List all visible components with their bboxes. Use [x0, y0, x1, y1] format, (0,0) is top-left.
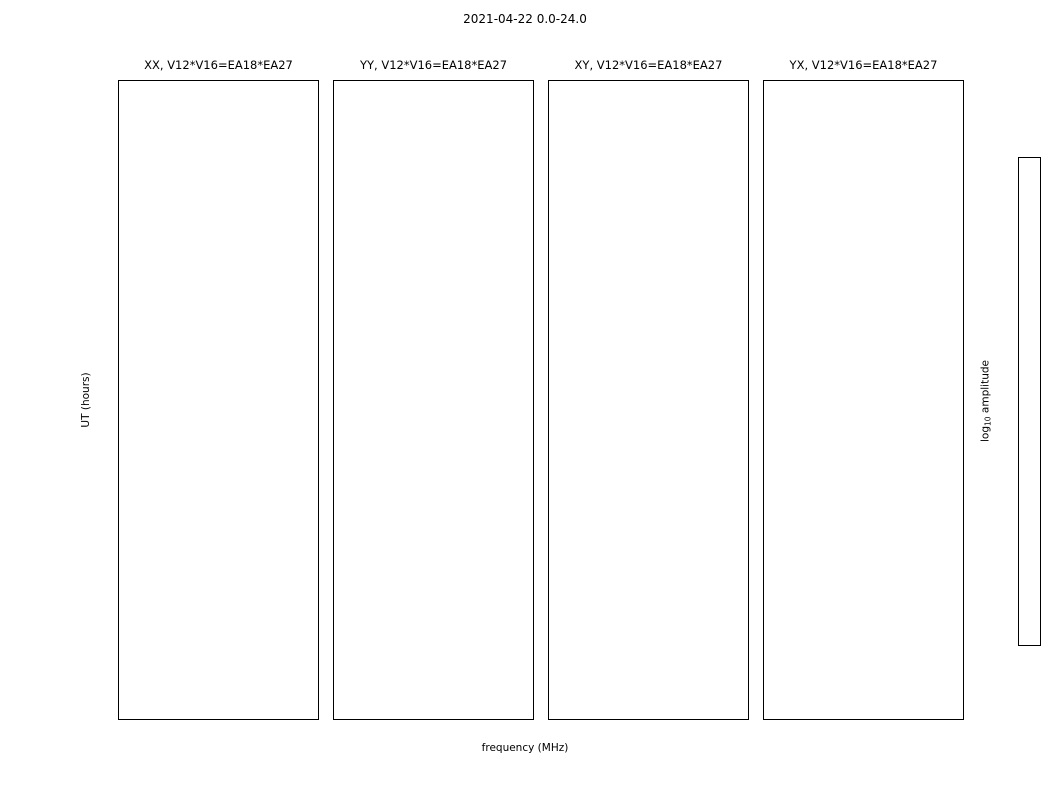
- heatmap-panel-yy[interactable]: [333, 80, 534, 720]
- heatmap-panel-xy[interactable]: [548, 80, 749, 720]
- panel-title-yy: YY, V12*V16=EA18*EA27: [333, 58, 534, 72]
- heatmap-panel-yx[interactable]: [763, 80, 964, 720]
- figure-suptitle: 2021-04-22 0.0-24.0: [0, 12, 1050, 26]
- panel-title-xx: XX, V12*V16=EA18*EA27: [118, 58, 319, 72]
- heatmap-panel-xx[interactable]: [118, 80, 319, 720]
- y-axis-label: UT (hours): [80, 372, 92, 427]
- colorbar-label-suffix: amplitude: [980, 360, 992, 416]
- colorbar-label-prefix: log: [980, 426, 992, 442]
- panel-title-yx: YX, V12*V16=EA18*EA27: [763, 58, 964, 72]
- colorbar-ticks: [1018, 157, 1041, 646]
- panel-title-xy: XY, V12*V16=EA18*EA27: [548, 58, 749, 72]
- colorbar-label-subscript: 10: [984, 416, 993, 426]
- x-axis-label: frequency (MHz): [0, 742, 1050, 754]
- colorbar-label: log10 amplitude: [980, 360, 993, 442]
